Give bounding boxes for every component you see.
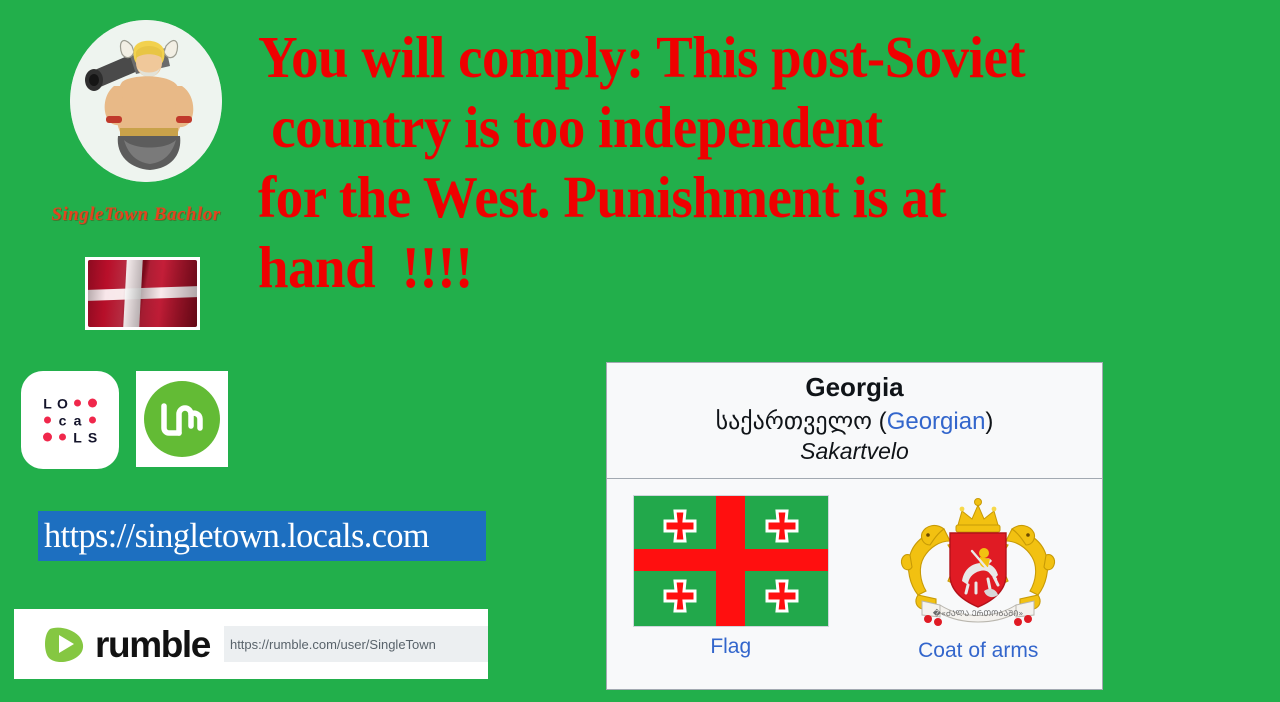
rumble-play-logo-icon — [42, 622, 86, 666]
bolnisi-cross-icon-4 — [765, 579, 799, 613]
bolnisi-cross-icon-3 — [663, 579, 697, 613]
locals-logo-icon[interactable]: L O c a L S — [21, 371, 119, 469]
rumble-banner[interactable]: rumble https://rumble.com/user/SingleTow… — [14, 609, 488, 679]
rumble-url-text: https://rumble.com/user/SingleTown — [230, 637, 436, 652]
georgia-flag-icon[interactable] — [633, 495, 829, 627]
locals-logo-grid: L O c a L S — [40, 395, 100, 446]
channel-branding-block: SingleTown Bachlor — [18, 14, 254, 324]
locals-dot-6 — [59, 434, 66, 441]
locals-letter-a: a — [74, 413, 82, 427]
infobox-symbols-row: Flag — [607, 479, 1102, 702]
locals-dot-4 — [89, 417, 96, 424]
locals-letter-l2: L — [73, 430, 82, 444]
viking-warrior-avatar-icon — [70, 20, 222, 182]
flag-caption-link[interactable]: Flag — [710, 635, 751, 659]
bolnisi-cross-icon-1 — [663, 509, 697, 543]
locals-letter-c: c — [59, 413, 67, 427]
headline-line-1: You will comply: This post-Soviet — [258, 22, 1151, 92]
headline-line-2: country is too independent — [258, 92, 1151, 162]
paren-close: ) — [985, 408, 993, 435]
georgia-coat-of-arms-icon[interactable]: �«ᲫᲐᲚᲐ ᲔᲠᲗᲝᲑᲐᲨᲘ» — [892, 495, 1064, 631]
bolnisi-cross-icon-2 — [765, 509, 799, 543]
infobox-language-link[interactable]: Georgian — [887, 408, 986, 435]
infobox-native-name-line: საქართველო (Georgian) — [617, 406, 1092, 437]
locals-letter-s: S — [88, 430, 97, 444]
locals-dot-2 — [88, 399, 97, 408]
headline-line-4: hand !!!! — [258, 232, 1151, 302]
rumble-wordmark: rumble — [95, 626, 210, 663]
lm-mastodon-logo-icon[interactable] — [136, 371, 228, 467]
locals-dot-1 — [74, 400, 81, 407]
infobox-native-name: საქართველო — [716, 408, 872, 435]
headline-line-3: for the West. Punishment is at — [258, 162, 1151, 232]
infobox-header: Georgia საქართველო (Georgian) Sakartvelo — [607, 363, 1102, 479]
lm-glyph-icon — [158, 402, 206, 436]
coat-of-arms-caption-link[interactable]: Coat of arms — [918, 639, 1038, 663]
infobox-title: Georgia — [617, 372, 1092, 403]
page-title: You will comply: This post-Soviet countr… — [258, 22, 1151, 302]
flag-horizontal-bar — [634, 549, 828, 571]
locals-letter-l1: L — [43, 396, 52, 410]
avatar — [70, 20, 222, 182]
georgia-infobox: Georgia საქართველო (Georgian) Sakartvelo — [606, 362, 1103, 690]
infobox-flag-cell: Flag — [607, 479, 855, 702]
locals-letter-o: O — [57, 396, 68, 410]
locals-url-bar[interactable]: https://singletown.locals.com — [38, 511, 486, 561]
avatar-disc — [70, 20, 222, 182]
locals-dot-5 — [43, 433, 52, 442]
infobox-romanized-name: Sakartvelo — [617, 437, 1092, 466]
svg-text:�«ᲫᲐᲚᲐ ᲔᲠᲗᲝᲑᲐᲨᲘ»: �«ᲫᲐᲚᲐ ᲔᲠᲗᲝᲑᲐᲨᲘ» — [933, 608, 1024, 618]
infobox-coat-of-arms-cell: �«ᲫᲐᲚᲐ ᲔᲠᲗᲝᲑᲐᲨᲘ» Coat of arms — [855, 479, 1103, 702]
locals-dot-3 — [44, 417, 51, 424]
locals-url-text: https://singletown.locals.com — [44, 516, 429, 556]
rumble-url-field[interactable]: https://rumble.com/user/SingleTown — [224, 626, 488, 662]
channel-name-label: SingleTown Bachlor — [18, 204, 254, 226]
paren-open: ( — [872, 408, 887, 435]
denmark-flag-icon — [85, 257, 200, 330]
